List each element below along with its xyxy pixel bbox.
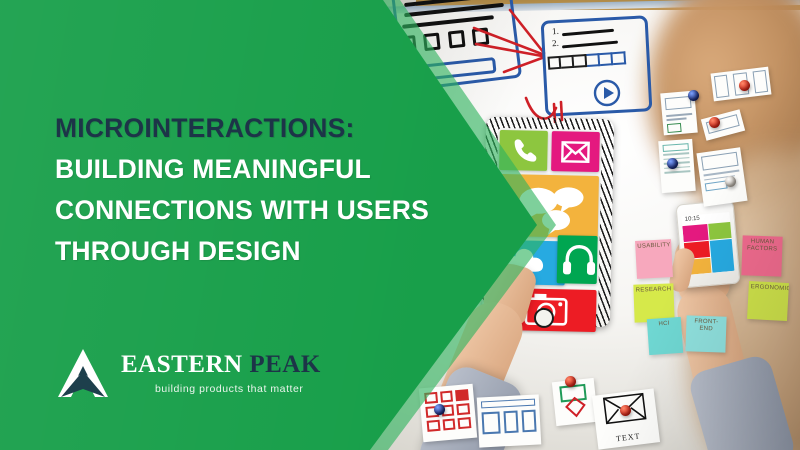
headline-line-1: MICROINTERACTIONS: [55,108,485,149]
blog-banner: 1. 2. [0,0,800,450]
eastern-peak-logo[interactable]: EASTERN PEAK building products that matt… [55,345,325,407]
headline-line-4: THROUGH DESIGN [55,231,485,272]
logo-word-secondary: PEAK [249,351,320,378]
logo-word-primary: EASTERN [121,351,243,378]
logo-wordmark: EASTERN PEAK [121,351,321,379]
page-title: MICROINTERACTIONS: BUILDING MEANINGFUL C… [55,108,485,272]
headline-line-2: BUILDING MEANINGFUL [55,149,485,190]
logo-tagline: building products that matter [155,383,303,395]
headline-line-3: CONNECTIONS WITH USERS [55,190,485,231]
mountain-peak-icon [55,347,111,399]
